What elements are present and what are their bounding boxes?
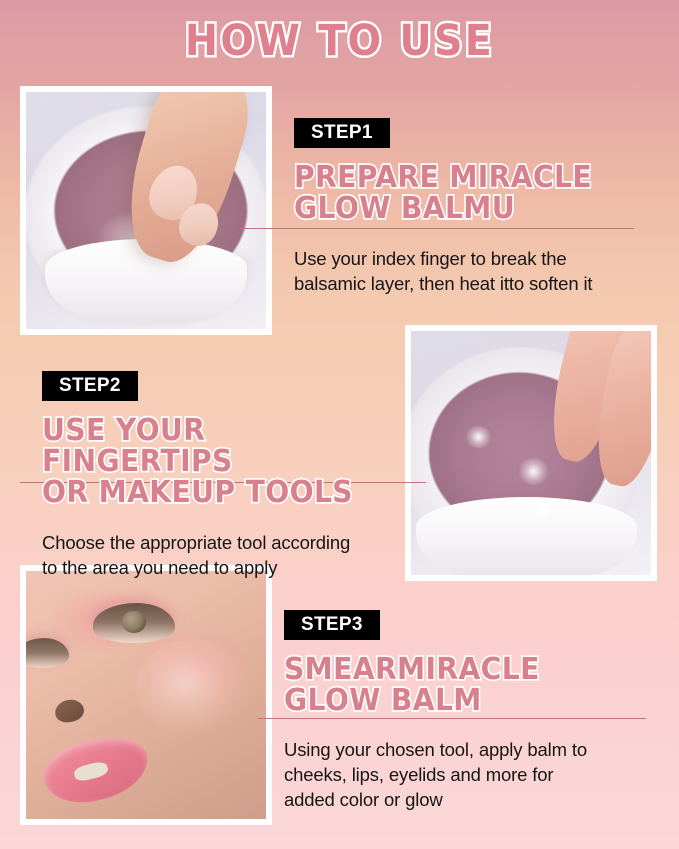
step-1-block: STEP1 PREPARE MIRACLE GLOW BALMU Use you… xyxy=(294,118,654,296)
step-3-photo-image xyxy=(26,571,266,819)
cheek-highlight-shape xyxy=(136,640,246,734)
jar-rim-shape xyxy=(416,497,637,575)
step-3-heading: SMEARMIRACLE GLOW BALM xyxy=(284,654,632,716)
balm-sparkle-shape xyxy=(517,458,551,485)
step-3-body: Using your chosen tool, apply balm to ch… xyxy=(284,737,654,812)
step-2-block: STEP2 USE YOUR FINGERTIPS OR MAKEUP TOOL… xyxy=(42,371,422,580)
how-to-use-infographic: HOW TO USE xyxy=(0,0,679,849)
step-1-heading: PREPARE MIRACLE GLOW BALMU xyxy=(294,162,632,224)
step-1-body: Use your index finger to break the balsa… xyxy=(294,246,654,296)
page-title: HOW TO USE xyxy=(27,17,652,65)
step-3-badge: STEP3 xyxy=(284,610,380,640)
step-2-body: Choose the appropriate tool according to… xyxy=(42,530,422,580)
step-2-badge: STEP2 xyxy=(42,371,138,401)
balm-sparkle-shape xyxy=(464,426,493,448)
step-1-photo xyxy=(20,86,272,335)
step-1-badge: STEP1 xyxy=(294,118,390,148)
iris-shape xyxy=(122,611,146,633)
step-1-photo-image xyxy=(26,92,266,329)
nostril-shape xyxy=(53,697,86,725)
step-3-photo xyxy=(20,565,272,825)
step-3-block: STEP3 SMEARMIRACLE GLOW BALM Using your … xyxy=(284,610,654,812)
step-2-photo-image xyxy=(411,331,651,575)
second-eye-shape xyxy=(26,638,69,668)
step-2-heading: USE YOUR FINGERTIPS OR MAKEUP TOOLS xyxy=(42,415,399,508)
step-2-photo xyxy=(405,325,657,581)
balm-sparkle-shape xyxy=(531,502,553,519)
